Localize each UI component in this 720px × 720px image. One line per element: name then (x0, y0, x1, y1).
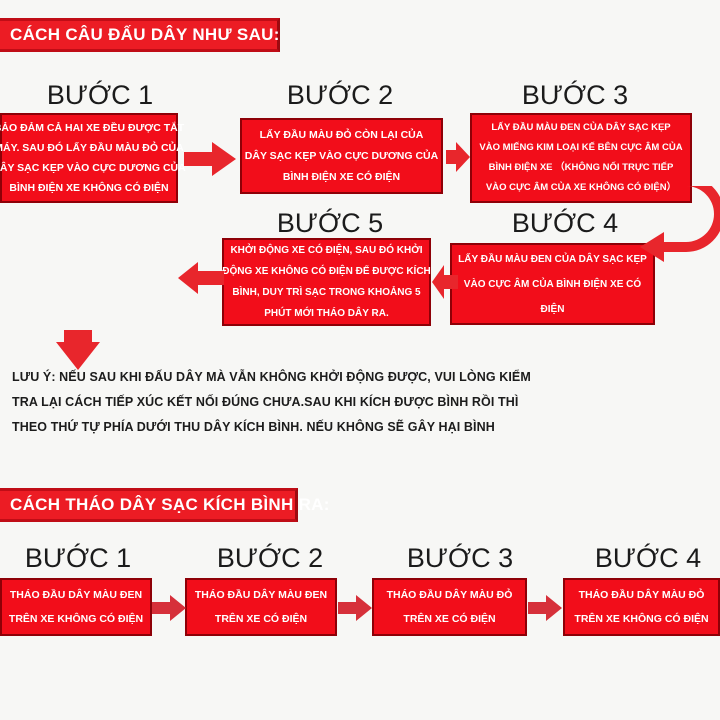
arrow-right-icon-remove-3-4 (528, 595, 562, 621)
section-banner-connect-text: CÁCH CÂU ĐẤU DÂY NHƯ SAU: (0, 25, 280, 45)
arrow-left-icon-connect-5-note (178, 262, 224, 294)
step-line: BÌNH ĐIỆN XE CÓ ĐIỆN (283, 167, 400, 188)
arrow-uturn-left-icon-connect-3-4 (630, 186, 720, 264)
step-line: LẤY ĐẦU MÀU ĐEN CỦA DÂY SẠC KẸP (491, 118, 670, 138)
step-line: BẢO ĐẢM CẢ HAI XE ĐỀU ĐƯỢC TẮT (0, 118, 184, 138)
section-banner-connect: CÁCH CÂU ĐẤU DÂY NHƯ SAU: (0, 18, 280, 52)
step-title-connect-5: BƯỚC 5 (260, 208, 400, 239)
step-line: THÁO ĐẦU DÂY MÀU ĐEN (10, 583, 142, 607)
arrow-right-icon-connect-1-2 (184, 142, 236, 176)
step-line: KHỞI ĐỘNG XE CÓ ĐIỆN, SAU ĐÓ KHỞI (230, 240, 422, 261)
note-line: TRA LẠI CÁCH TIẾP XÚC KẾT NỐI ĐÚNG CHƯA.… (12, 390, 702, 415)
arrow-left-icon-connect-4-5 (432, 265, 458, 299)
step-line: TRÊN XE KHÔNG CÓ ĐIỆN (574, 607, 708, 631)
note-line: THEO THỨ TỰ PHÍA DƯỚI THU DÂY KÍCH BÌNH.… (12, 415, 702, 440)
step-line: VÀO MIẾNG KIM LOẠI KẾ BÊN CỰC ÂM CỦA (479, 138, 682, 158)
step-line: MÁY. SAU ĐÓ LẤY ĐẦU MÀU ĐỎ CỦA (0, 138, 184, 158)
step-box-remove-3: THÁO ĐẦU DÂY MÀU ĐỎ TRÊN XE CÓ ĐIỆN (372, 578, 527, 636)
step-line: LẤY ĐẦU MÀU ĐEN CỦA DÂY SẠC KẸP (458, 247, 647, 272)
step-title-remove-1: BƯỚC 1 (8, 543, 148, 574)
arrow-right-icon-connect-2-3 (446, 142, 470, 172)
step-line: LẤY ĐẦU MÀU ĐỎ CÒN LẠI CỦA (260, 125, 424, 146)
step-box-remove-2: THÁO ĐẦU DÂY MÀU ĐEN TRÊN XE CÓ ĐIỆN (185, 578, 337, 636)
step-title-connect-1: BƯỚC 1 (30, 80, 170, 111)
step-box-remove-1: THÁO ĐẦU DÂY MÀU ĐEN TRÊN XE KHÔNG CÓ ĐI… (0, 578, 152, 636)
step-line: BÌNH ĐIỆN XE （KHÔNG NỐI TRỰC TIẾP (489, 158, 674, 178)
step-box-connect-4: LẤY ĐẦU MÀU ĐEN CỦA DÂY SẠC KẸP VÀO CỰC … (450, 243, 655, 325)
step-line: BÌNH ĐIỆN XE KHÔNG CÓ ĐIỆN (9, 178, 168, 198)
step-box-connect-5: KHỞI ĐỘNG XE CÓ ĐIỆN, SAU ĐÓ KHỞI ĐỘNG X… (222, 238, 431, 326)
note-paragraph: LƯU Ý: NẾU SAU KHI ĐẤU DÂY MÀ VẪN KHÔNG … (12, 365, 702, 440)
step-line: TRÊN XE KHÔNG CÓ ĐIỆN (9, 607, 143, 631)
step-title-connect-4: BƯỚC 4 (495, 208, 635, 239)
step-box-connect-2: LẤY ĐẦU MÀU ĐỎ CÒN LẠI CỦA DÂY SẠC KẸP V… (240, 118, 443, 194)
step-line: THÁO ĐẦU DÂY MÀU ĐỎ (387, 583, 513, 607)
step-line: VÀO CỰC ÂM CỦA BÌNH ĐIỆN XE CÓ (464, 272, 641, 297)
note-line: LƯU Ý: NẾU SAU KHI ĐẤU DÂY MÀ VẪN KHÔNG … (12, 365, 702, 390)
step-line: DÂY SẠC KẸP VÀO CỰC DƯƠNG CỦA (245, 146, 438, 167)
arrow-right-icon-remove-2-3 (338, 595, 372, 621)
infographic-page: CÁCH CÂU ĐẤU DÂY NHƯ SAU: BƯỚC 1 BƯỚC 2 … (0, 0, 720, 720)
step-title-remove-4: BƯỚC 4 (578, 543, 718, 574)
step-box-remove-4: THÁO ĐẦU DÂY MÀU ĐỎ TRÊN XE KHÔNG CÓ ĐIỆ… (563, 578, 720, 636)
step-title-remove-3: BƯỚC 3 (390, 543, 530, 574)
step-line: TRÊN XE CÓ ĐIỆN (215, 607, 307, 631)
step-line: BÌNH, DUY TRÌ SẠC TRONG KHOẢNG 5 (232, 282, 420, 303)
section-banner-remove-text: CÁCH THÁO DÂY SẠC KÍCH BÌNH RA: (0, 495, 330, 515)
step-title-connect-3: BƯỚC 3 (505, 80, 645, 111)
step-line: THÁO ĐẦU DÂY MÀU ĐEN (195, 583, 327, 607)
step-title-remove-2: BƯỚC 2 (200, 543, 340, 574)
arrow-down-icon-note (56, 330, 100, 370)
arrow-right-icon-remove-1-2 (152, 595, 186, 621)
step-line: DÂY SẠC KẸP VÀO CỰC DƯƠNG CỦA (0, 158, 186, 178)
step-line: ĐỘNG XE KHÔNG CÓ ĐIỆN ĐỂ ĐƯỢC KÍCH (222, 261, 431, 282)
section-banner-remove: CÁCH THÁO DÂY SẠC KÍCH BÌNH RA: (0, 488, 298, 522)
step-line: PHÚT MỚI THÁO DÂY RA. (264, 303, 388, 324)
step-title-connect-2: BƯỚC 2 (270, 80, 410, 111)
step-line: THÁO ĐẦU DÂY MÀU ĐỎ (579, 583, 705, 607)
step-line: TRÊN XE CÓ ĐIỆN (403, 607, 495, 631)
step-box-connect-1: BẢO ĐẢM CẢ HAI XE ĐỀU ĐƯỢC TẮT MÁY. SAU … (0, 113, 178, 203)
step-line: ĐIỆN (541, 297, 565, 322)
